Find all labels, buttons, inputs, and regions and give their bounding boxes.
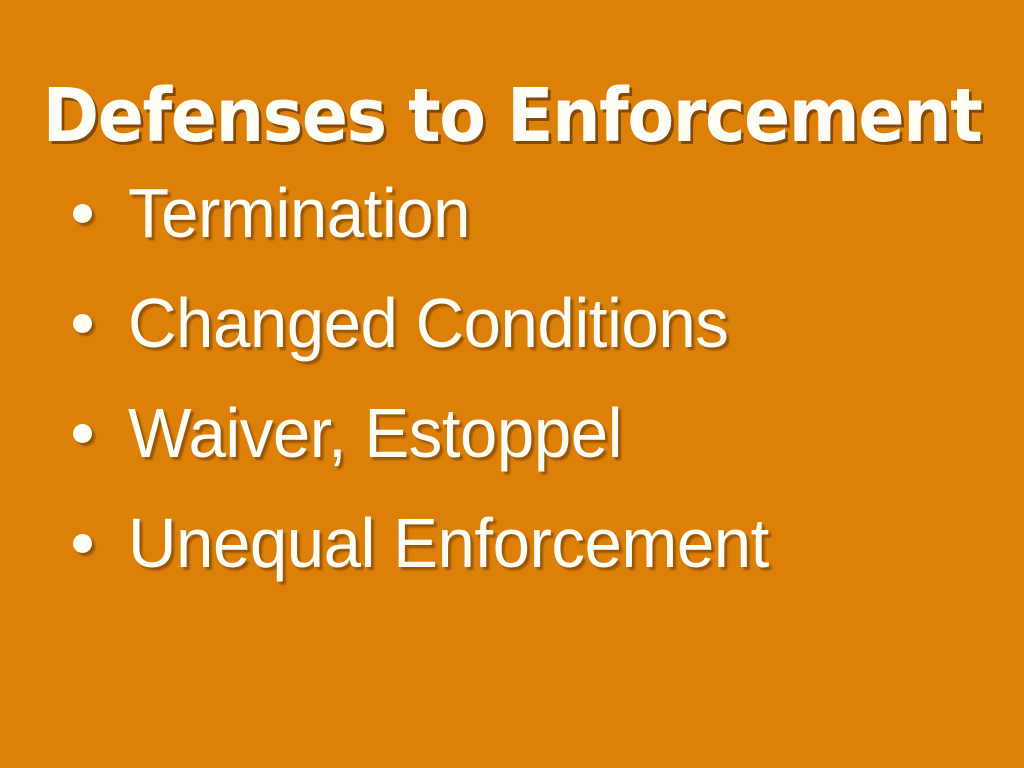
list-item: Changed Conditions — [64, 268, 994, 378]
disc-bullet-icon — [73, 314, 92, 333]
bullet-list: Termination Changed Conditions Waiver, E… — [64, 158, 994, 598]
list-item-label: Termination — [128, 174, 470, 252]
list-item-label: Waiver, Estoppel — [128, 394, 622, 472]
slide-title: Defenses to Enforcement — [41, 72, 983, 160]
presentation-slide: Defenses to Enforcement Termination Chan… — [0, 0, 1024, 768]
list-item-label: Unequal Enforcement — [128, 504, 769, 582]
list-item: Waiver, Estoppel — [64, 378, 994, 488]
list-item: Termination — [64, 158, 994, 268]
disc-bullet-icon — [73, 424, 92, 443]
disc-bullet-icon — [73, 204, 92, 223]
disc-bullet-icon — [73, 534, 92, 553]
list-item: Unequal Enforcement — [64, 488, 994, 598]
list-item-label: Changed Conditions — [128, 284, 728, 362]
